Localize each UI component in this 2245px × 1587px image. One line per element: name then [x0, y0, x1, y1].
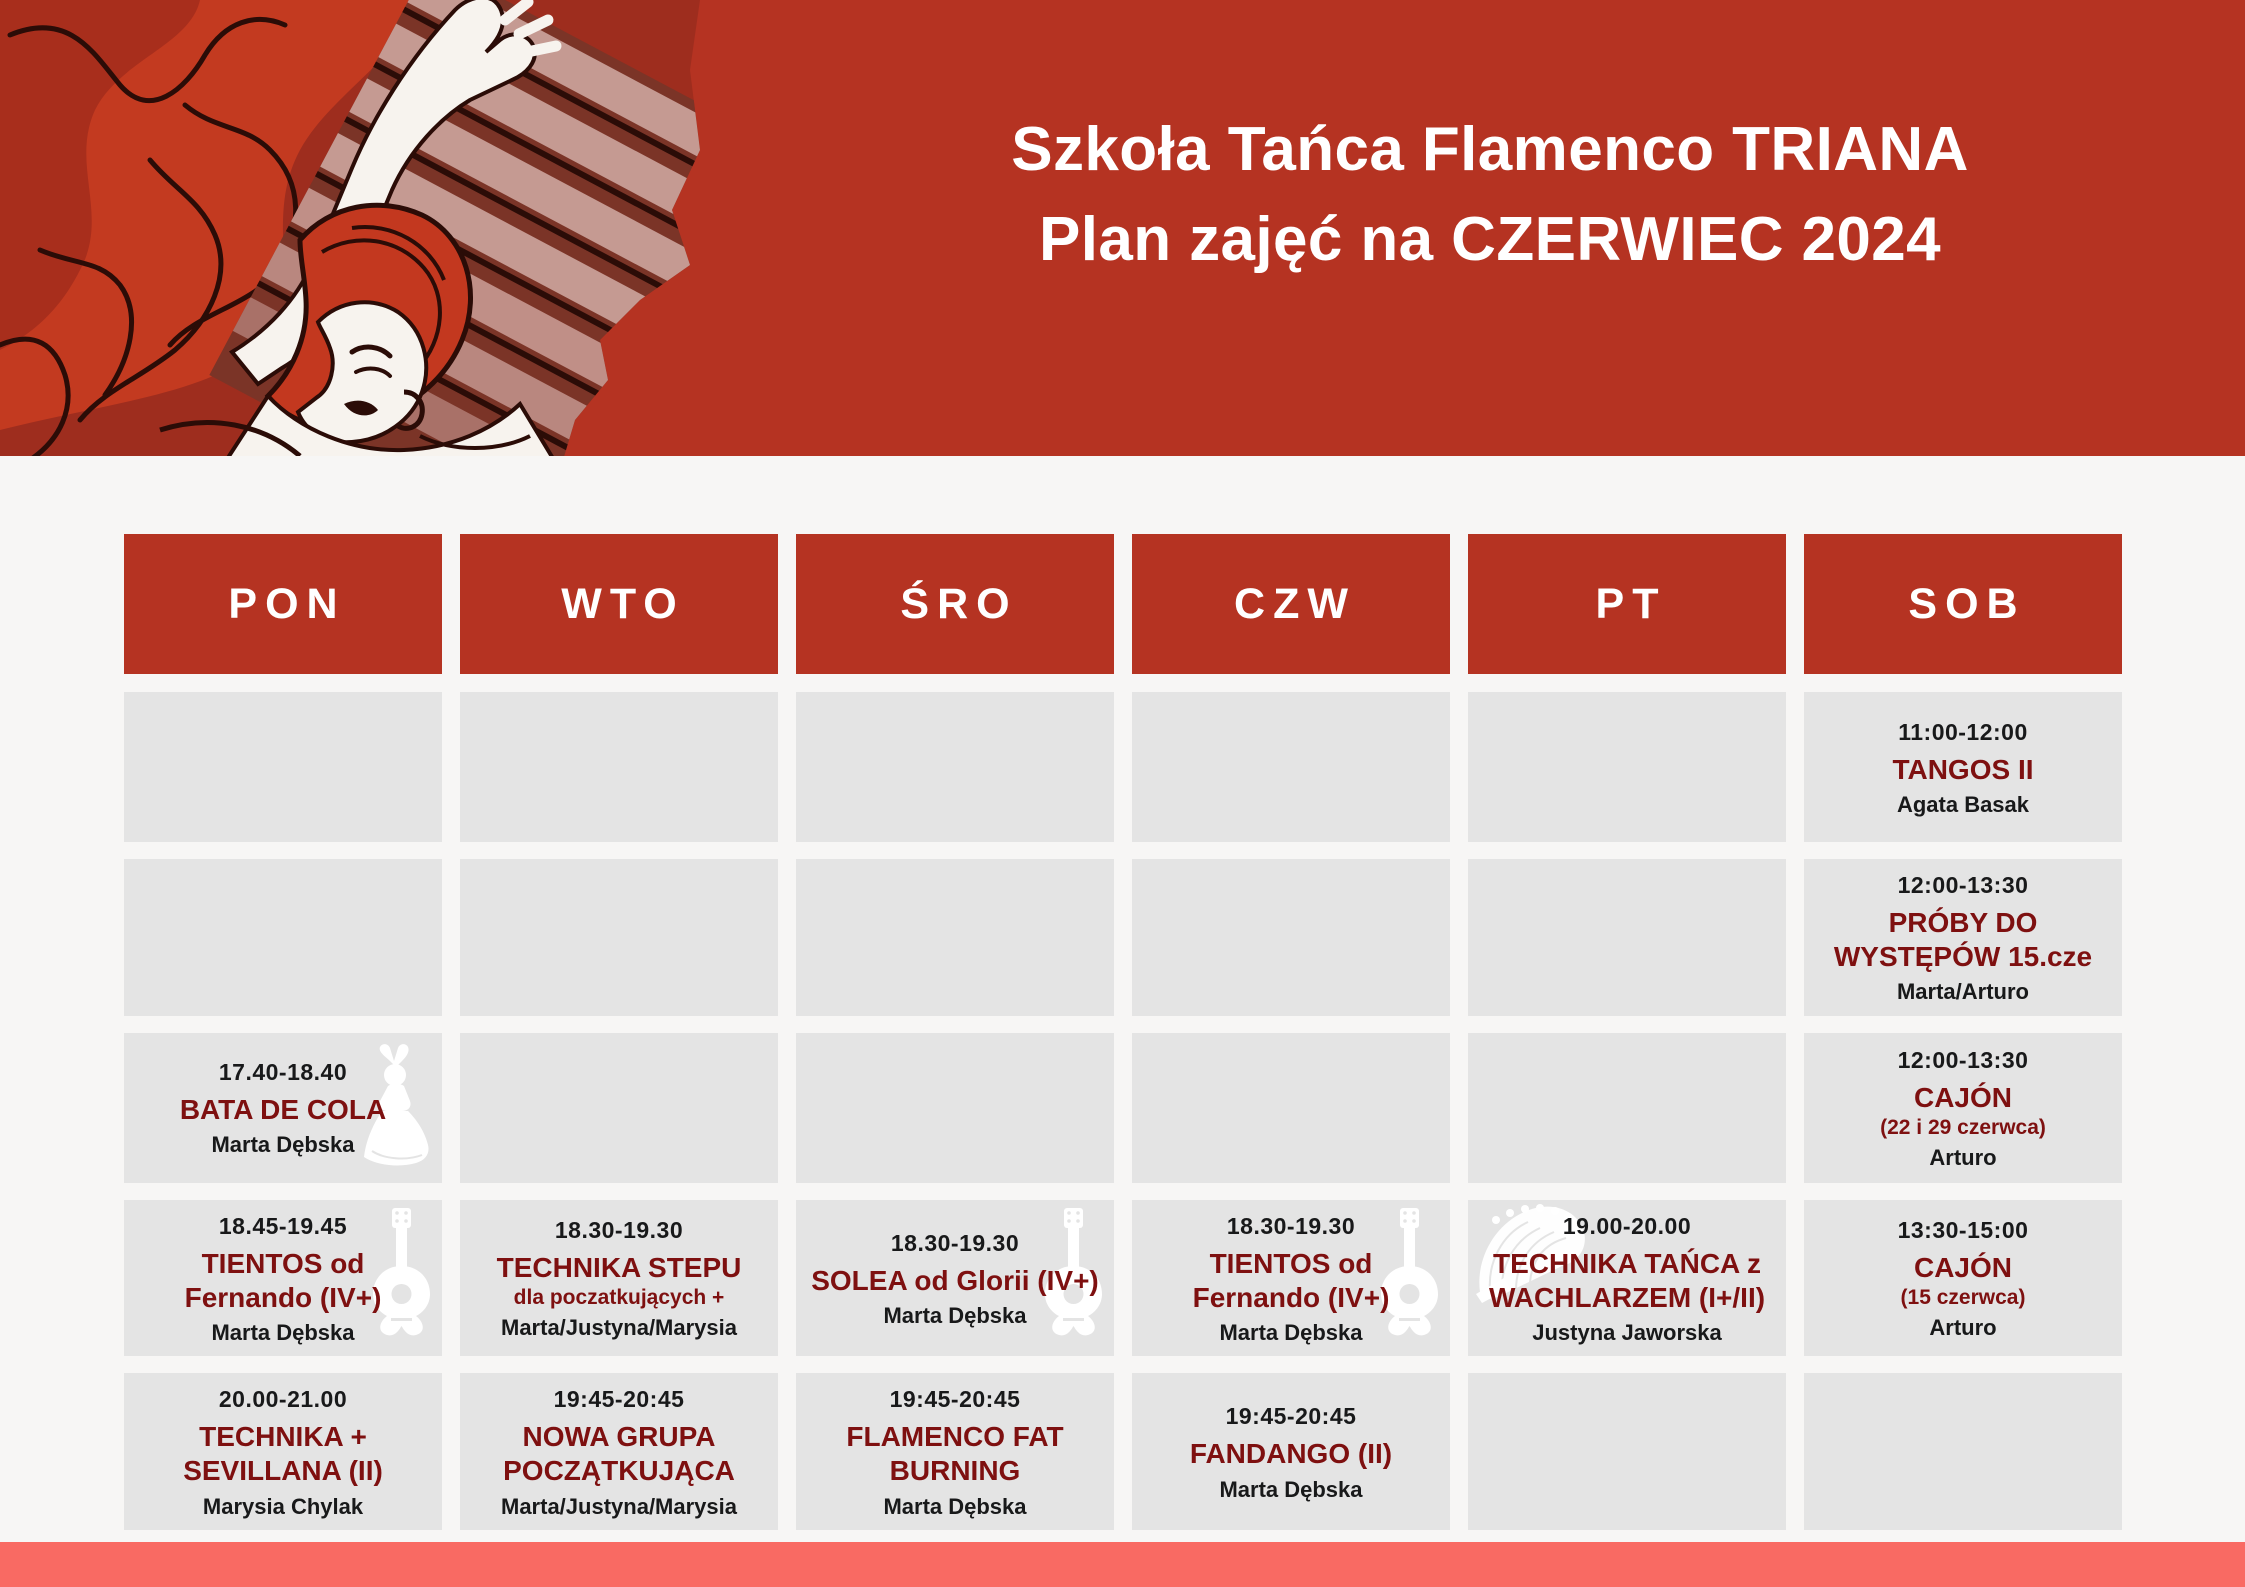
schedule-row: 12:00-13:30PRÓBY DO WYSTĘPÓW 15.czeMarta… [124, 859, 2122, 1016]
class-teacher: Arturo [1929, 1144, 1996, 1172]
class-teacher: Marta Dębska [883, 1493, 1026, 1521]
class-title: CAJÓN [1914, 1251, 2012, 1285]
class-slot[interactable]: 18.30-19.30TIENTOS od Fernando (IV+)Mart… [1132, 1200, 1450, 1357]
class-teacher: Marta Dębska [1219, 1319, 1362, 1347]
class-time: 20.00-21.00 [219, 1385, 347, 1415]
class-teacher: Marta Dębska [883, 1302, 1026, 1330]
class-time: 18.45-19.45 [219, 1212, 347, 1242]
class-title: TIENTOS od Fernando (IV+) [134, 1247, 432, 1315]
schedule-row: 17.40-18.40BATA DE COLAMarta Dębska12:00… [124, 1033, 2122, 1183]
class-subtitle: (22 i 29 czerwca) [1880, 1115, 2046, 1140]
class-slot[interactable]: 11:00-12:00TANGOS IIAgata Basak [1804, 692, 2122, 842]
class-title: NOWA GRUPA POCZĄTKUJĄCA [470, 1420, 768, 1488]
day-header-label: WTO [553, 580, 685, 629]
class-subtitle: dla poczatkujących + [514, 1285, 725, 1310]
class-teacher: Marta/Arturo [1897, 978, 2029, 1006]
class-slot[interactable]: 18.30-19.30TECHNIKA STEPUdla poczatkując… [460, 1200, 778, 1357]
class-time: 12:00-13:30 [1898, 871, 2029, 901]
footer-accent-bar [0, 1542, 2245, 1587]
class-teacher: Arturo [1929, 1314, 1996, 1342]
empty-slot [460, 1033, 778, 1183]
schedule-rows: 11:00-12:00TANGOS IIAgata Basak12:00-13:… [124, 692, 2122, 1530]
class-teacher: Marta/Justyna/Marysia [501, 1493, 737, 1521]
day-header-pt[interactable]: PT [1468, 534, 1786, 674]
day-header-label: PT [1588, 580, 1667, 629]
class-slot[interactable]: 20.00-21.00TECHNIKA + SEVILLANA (II)Mary… [124, 1373, 442, 1530]
class-time: 18.30-19.30 [891, 1229, 1019, 1259]
class-time: 17.40-18.40 [219, 1058, 347, 1088]
empty-slot [796, 859, 1114, 1016]
weekly-schedule-grid: PONWTOŚROCZWPTSOB 11:00-12:00TANGOS IIAg… [124, 534, 2122, 1547]
class-teacher: Marysia Chylak [203, 1493, 363, 1521]
class-title: FLAMENCO FAT BURNING [806, 1420, 1104, 1488]
day-header-sob[interactable]: SOB [1804, 534, 2122, 674]
day-header-wto[interactable]: WTO [460, 534, 778, 674]
empty-slot [460, 859, 778, 1016]
empty-slot [796, 1033, 1114, 1183]
class-title: SOLEA od Glorii (IV+) [811, 1264, 1099, 1298]
class-title: BATA DE COLA [180, 1093, 386, 1127]
class-title: CAJÓN [1914, 1081, 2012, 1115]
schedule-row: 20.00-21.00TECHNIKA + SEVILLANA (II)Mary… [124, 1373, 2122, 1530]
class-title: TECHNIKA STEPU [497, 1251, 742, 1285]
class-title: FANDANGO (II) [1190, 1437, 1392, 1471]
day-header-label: SOB [1900, 580, 2025, 629]
class-teacher: Marta Dębska [211, 1131, 354, 1159]
header-banner: Szkoła Tańca Flamenco TRIANA Plan zajęć … [0, 0, 2245, 456]
empty-slot [1804, 1373, 2122, 1530]
class-time: 19:45-20:45 [890, 1385, 1021, 1415]
class-time: 11:00-12:00 [1898, 718, 2028, 748]
class-time: 19.00-20.00 [1563, 1212, 1691, 1242]
class-title: TECHNIKA + SEVILLANA (II) [134, 1420, 432, 1488]
day-header-pon[interactable]: PON [124, 534, 442, 674]
day-header-czw[interactable]: CZW [1132, 534, 1450, 674]
empty-slot [124, 692, 442, 842]
class-time: 19:45-20:45 [1226, 1402, 1357, 1432]
empty-slot [796, 692, 1114, 842]
class-time: 18.30-19.30 [1227, 1212, 1355, 1242]
class-title: PRÓBY DO WYSTĘPÓW 15.cze [1814, 906, 2112, 974]
class-teacher: Marta Dębska [211, 1319, 354, 1347]
schedule-poster: Szkoła Tańca Flamenco TRIANA Plan zajęć … [0, 0, 2245, 1587]
day-header-label: ŚRO [892, 580, 1017, 629]
class-slot[interactable]: 19:45-20:45FLAMENCO FAT BURNINGMarta Dęb… [796, 1373, 1114, 1530]
schedule-row: 18.45-19.45TIENTOS od Fernando (IV+)Mart… [124, 1200, 2122, 1357]
empty-slot [460, 692, 778, 842]
empty-slot [124, 859, 442, 1016]
class-teacher: Marta/Justyna/Marysia [501, 1314, 737, 1342]
day-header-row: PONWTOŚROCZWPTSOB [124, 534, 2122, 674]
class-title: TANGOS II [1892, 753, 2033, 787]
class-time: 18.30-19.30 [555, 1216, 683, 1246]
class-slot[interactable]: 13:30-15:00CAJÓN(15 czerwca)Arturo [1804, 1200, 2122, 1357]
schedule-row: 11:00-12:00TANGOS IIAgata Basak [124, 692, 2122, 842]
class-title: TIENTOS od Fernando (IV+) [1142, 1247, 1440, 1315]
class-teacher: Marta Dębska [1219, 1476, 1362, 1504]
day-header-label: CZW [1226, 580, 1356, 629]
empty-slot [1468, 1373, 1786, 1530]
class-time: 19:45-20:45 [554, 1385, 685, 1415]
schedule-subtitle: Plan zajęć na CZERWIEC 2024 [790, 195, 2190, 285]
class-slot[interactable]: 19:45-20:45FANDANGO (II)Marta Dębska [1132, 1373, 1450, 1530]
day-header-label: PON [220, 580, 345, 629]
day-header-śro[interactable]: ŚRO [796, 534, 1114, 674]
class-slot[interactable]: 19:45-20:45NOWA GRUPA POCZĄTKUJĄCAMarta/… [460, 1373, 778, 1530]
class-title: TECHNIKA TAŃCA z WACHLARZEM (I+/II) [1478, 1247, 1776, 1315]
class-teacher: Justyna Jaworska [1532, 1319, 1722, 1347]
class-slot[interactable]: 18.30-19.30SOLEA od Glorii (IV+)Marta Dę… [796, 1200, 1114, 1357]
empty-slot [1132, 859, 1450, 1016]
class-slot[interactable]: 18.45-19.45TIENTOS od Fernando (IV+)Mart… [124, 1200, 442, 1357]
class-subtitle: (15 czerwca) [1901, 1285, 2026, 1310]
empty-slot [1132, 1033, 1450, 1183]
flamenco-dancer-illustration-icon [0, 0, 790, 456]
school-name: Szkoła Tańca Flamenco TRIANA [790, 105, 2190, 195]
class-slot[interactable]: 19.00-20.00TECHNIKA TAŃCA z WACHLARZEM (… [1468, 1200, 1786, 1357]
class-time: 12:00-13:30 [1898, 1046, 2029, 1076]
poster-title-block: Szkoła Tańca Flamenco TRIANA Plan zajęć … [790, 105, 2190, 285]
class-slot[interactable]: 17.40-18.40BATA DE COLAMarta Dębska [124, 1033, 442, 1183]
empty-slot [1132, 692, 1450, 842]
class-teacher: Agata Basak [1897, 791, 2029, 819]
empty-slot [1468, 692, 1786, 842]
class-slot[interactable]: 12:00-13:30CAJÓN(22 i 29 czerwca)Arturo [1804, 1033, 2122, 1183]
class-slot[interactable]: 12:00-13:30PRÓBY DO WYSTĘPÓW 15.czeMarta… [1804, 859, 2122, 1016]
empty-slot [1468, 859, 1786, 1016]
class-time: 13:30-15:00 [1898, 1216, 2029, 1246]
empty-slot [1468, 1033, 1786, 1183]
